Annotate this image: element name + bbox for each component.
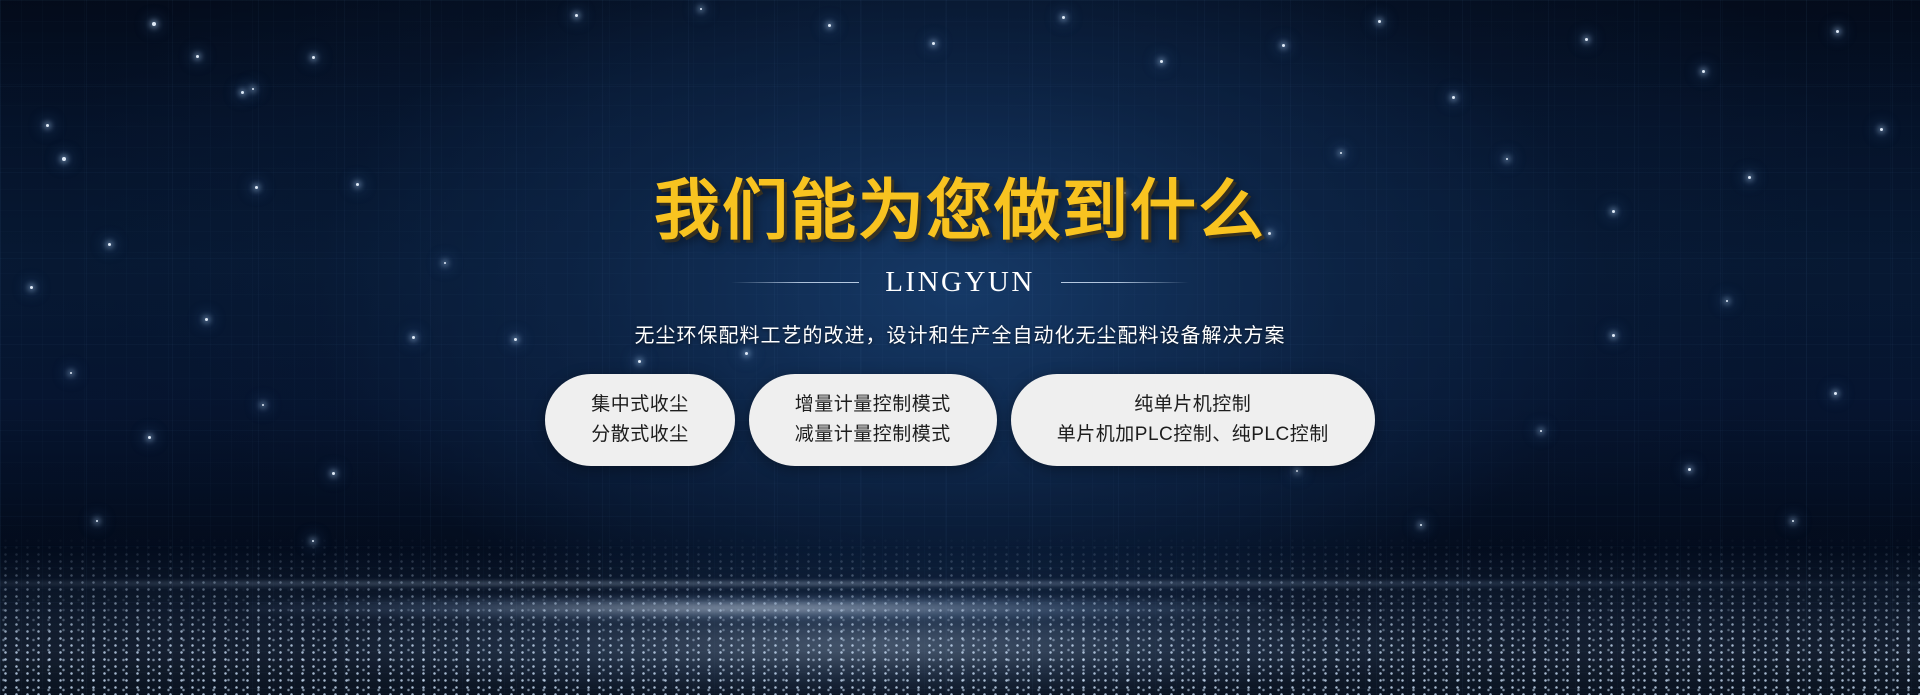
wave-crest-glow <box>247 595 1272 621</box>
star-icon <box>332 472 335 475</box>
star-icon <box>1420 524 1422 526</box>
star-icon <box>96 520 98 522</box>
card-line-secondary: 减量计量控制模式 <box>795 423 951 447</box>
brand-eyebrow: LINGYUN <box>0 266 1920 299</box>
hero-banner: 我们能为您做到什么 LINGYUN 无尘环保配料工艺的改进，设计和生产全自动化无… <box>0 0 1920 695</box>
card-line-secondary: 单片机加PLC控制、纯PLC控制 <box>1057 423 1329 447</box>
star-icon <box>312 540 314 542</box>
wave-dot-layer-near <box>0 537 1920 695</box>
feature-card-dust-collection[interactable]: 集中式收尘 分散式收尘 <box>545 374 735 466</box>
card-line-secondary: 分散式收尘 <box>591 423 689 447</box>
dotted-wave-decoration <box>0 477 1920 695</box>
divider-line-left <box>731 282 859 283</box>
star-icon <box>1688 468 1691 471</box>
card-line-primary: 集中式收尘 <box>591 393 689 417</box>
feature-card-control-system[interactable]: 纯单片机控制 单片机加PLC控制、纯PLC控制 <box>1011 374 1375 466</box>
wave-dot-layer-far <box>0 585 1920 695</box>
page-subtitle: 无尘环保配料工艺的改进，设计和生产全自动化无尘配料设备解决方案 <box>0 319 1920 348</box>
wave-haze <box>0 547 1920 695</box>
card-line-primary: 增量计量控制模式 <box>795 393 951 417</box>
feature-card-metering-mode[interactable]: 增量计量控制模式 减量计量控制模式 <box>749 374 997 466</box>
wave-horizon-line <box>0 582 1920 585</box>
feature-card-list: 集中式收尘 分散式收尘 增量计量控制模式 减量计量控制模式 纯单片机控制 单片机… <box>0 374 1920 466</box>
star-icon <box>1792 520 1794 522</box>
page-title: 我们能为您做到什么 <box>0 0 1920 244</box>
banner-content: 我们能为您做到什么 LINGYUN 无尘环保配料工艺的改进，设计和生产全自动化无… <box>0 0 1920 466</box>
divider-line-right <box>1061 282 1189 283</box>
card-line-primary: 纯单片机控制 <box>1134 393 1251 417</box>
star-icon <box>1296 470 1298 472</box>
brand-name: LINGYUN <box>885 266 1035 299</box>
